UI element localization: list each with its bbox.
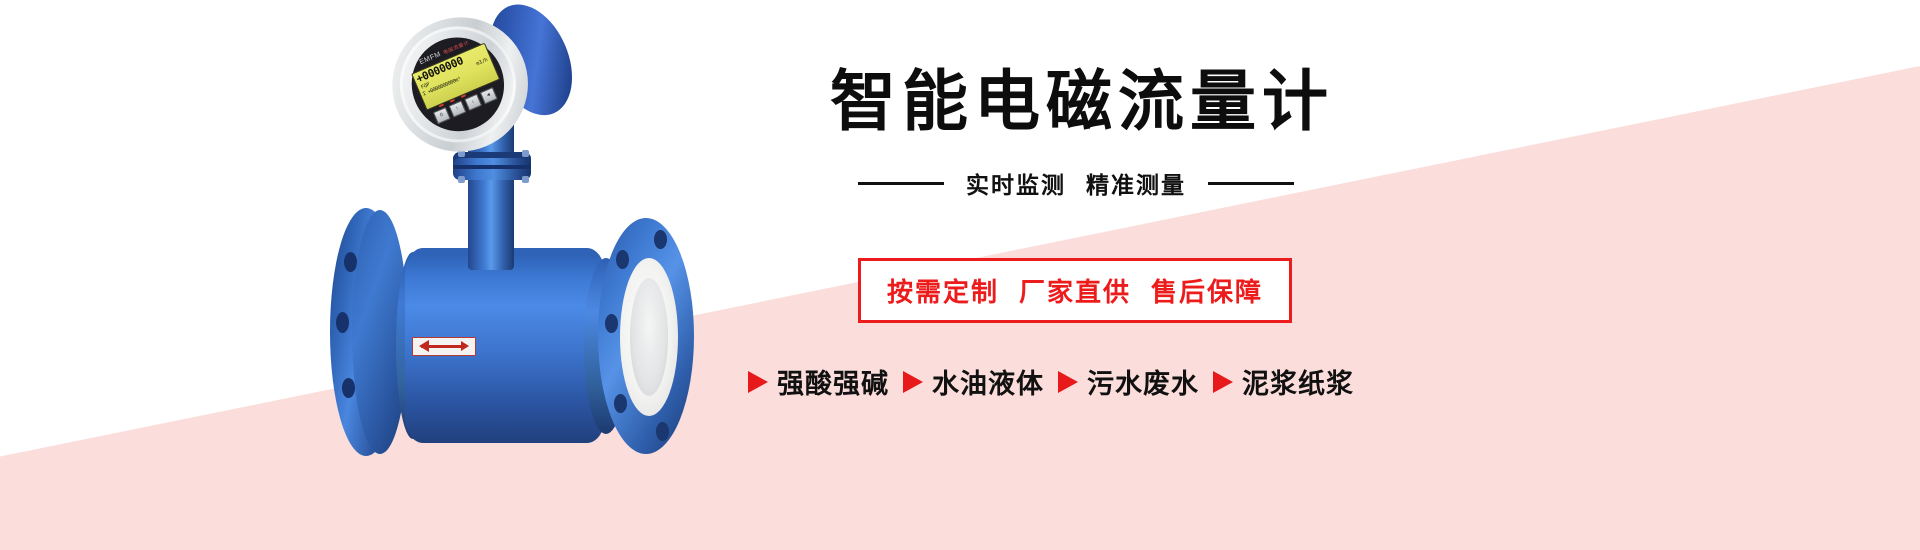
- product-illustration: EMFM电磁流量计 +0000000 FQP m3/h Σ +000000000…: [300, 0, 720, 470]
- triangle-right-icon: [1058, 371, 1078, 393]
- feature-label: 污水废水: [1087, 362, 1199, 401]
- arrow-shaft-icon: [421, 345, 465, 348]
- flow-direction-arrow-plate: [412, 337, 476, 356]
- subtitle-rule-right: [1208, 182, 1294, 185]
- feature-label: 水油液体: [932, 362, 1044, 401]
- triangle-right-icon: [1213, 371, 1233, 393]
- promo-banner: EMFM电磁流量计 +0000000 FQP m3/h Σ +000000000…: [0, 0, 1920, 550]
- triangle-right-icon: [903, 371, 923, 393]
- feature-list: 强酸强碱 水油液体 污水废水 泥浆纸浆: [748, 362, 1354, 401]
- feature-label: 强酸强碱: [777, 362, 889, 401]
- triangle-right-icon: [748, 371, 768, 393]
- promo-item-1: 厂家直供: [1019, 277, 1131, 307]
- neck-bolt: [522, 150, 529, 157]
- feature-item: 泥浆纸浆: [1213, 362, 1354, 401]
- flange-right-bore: [630, 278, 668, 396]
- banner-headline: 智能电磁流量计: [830, 48, 1334, 144]
- converter-neck-flange-seam: [453, 165, 531, 169]
- feature-item: 污水废水: [1058, 362, 1199, 401]
- converter-head: EMFM电磁流量计 +0000000 FQP m3/h Σ +000000000…: [365, 0, 591, 179]
- neck-bolt: [522, 176, 529, 183]
- feature-item: 强酸强碱: [748, 362, 889, 401]
- subtitle-text: 实时监测精准测量: [966, 166, 1186, 200]
- promo-item-0: 按需定制: [887, 277, 999, 307]
- promo-text: 按需定制厂家直供售后保障: [887, 277, 1263, 307]
- promo-box: 按需定制厂家直供售后保障: [858, 258, 1292, 323]
- subtitle-rule-left: [858, 182, 944, 185]
- feature-label: 泥浆纸浆: [1242, 362, 1354, 401]
- subtitle-text-right: 精准测量: [1086, 172, 1186, 198]
- feature-item: 水油液体: [903, 362, 1044, 401]
- promo-item-2: 售后保障: [1151, 277, 1263, 307]
- arrow-tip-icon: [461, 341, 469, 351]
- neck-bolt: [458, 176, 465, 183]
- subtitle-text-left: 实时监测: [966, 172, 1066, 198]
- banner-subtitle: 实时监测精准测量: [858, 166, 1294, 200]
